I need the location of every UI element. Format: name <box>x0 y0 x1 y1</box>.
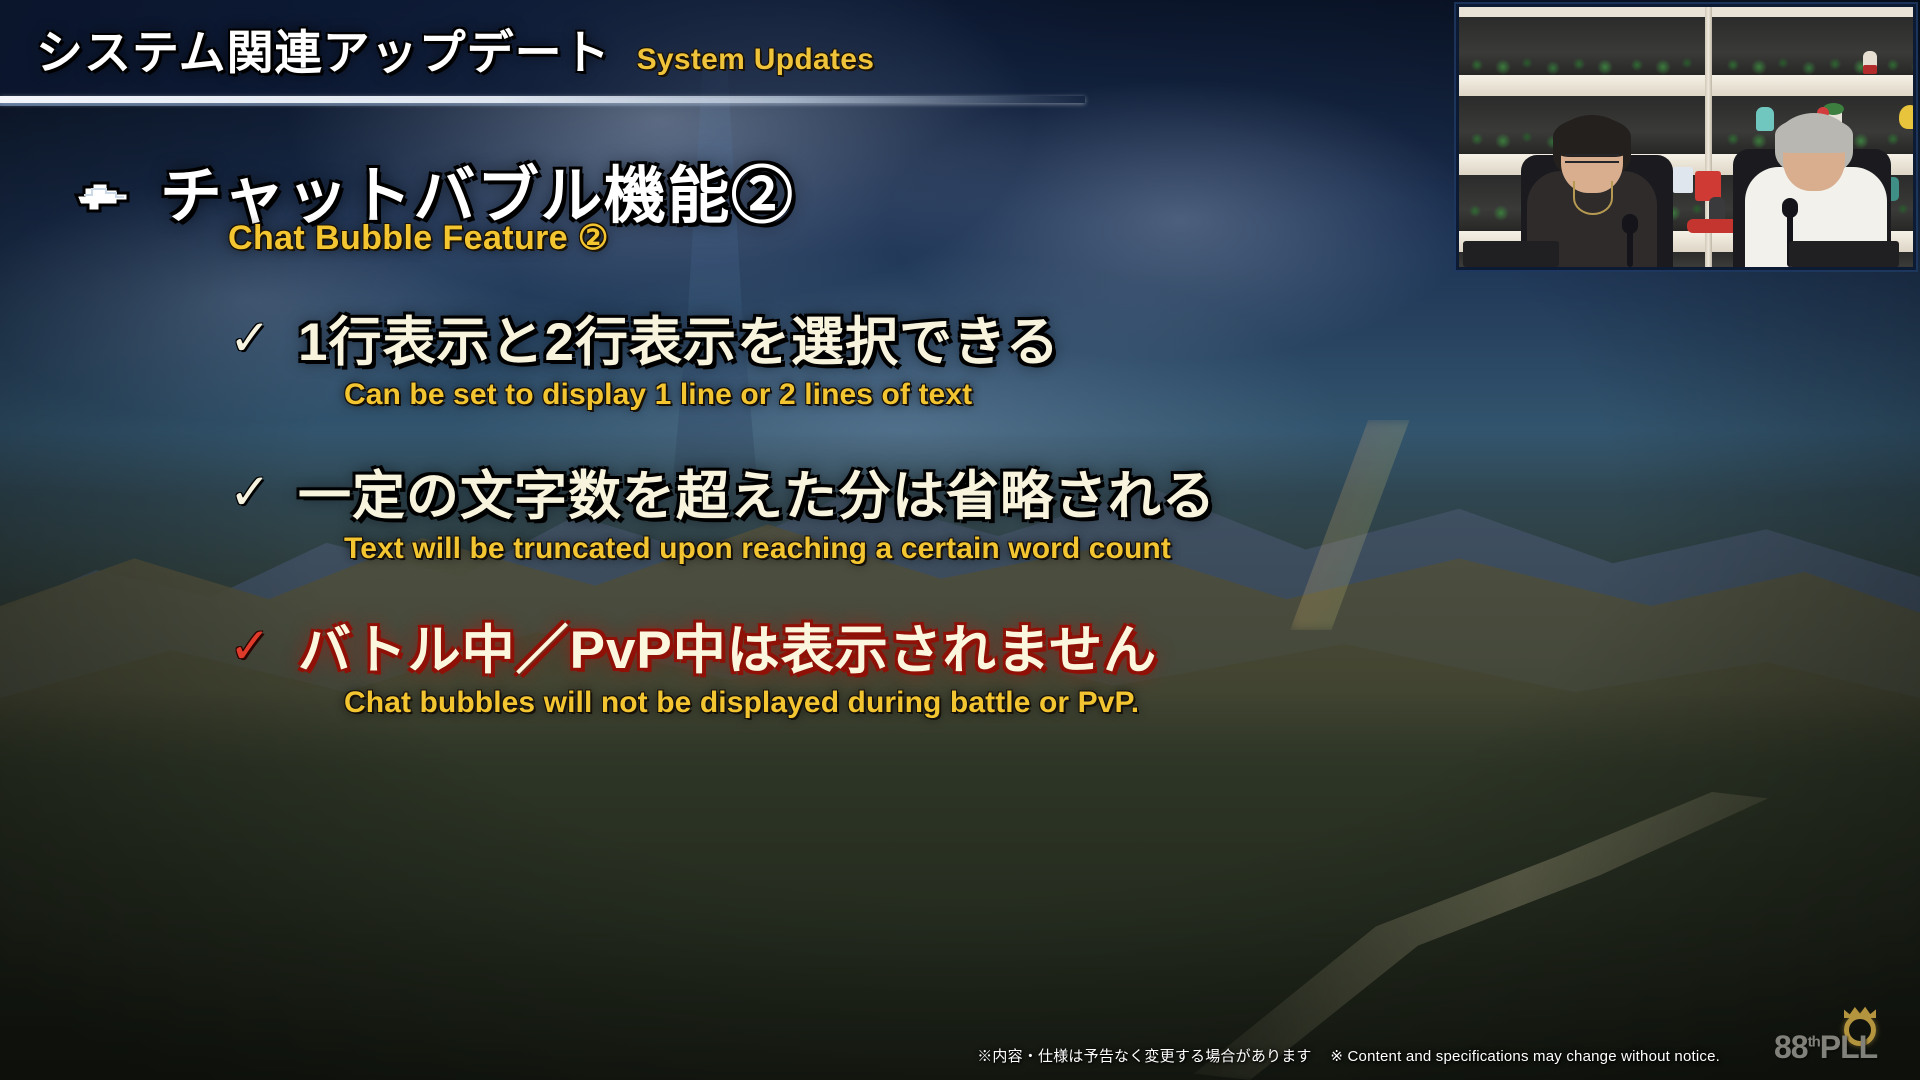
bullet-text-jp: 1行表示と2行表示を選択できる <box>298 300 1060 376</box>
pointing-hand-icon <box>70 173 136 219</box>
laptop <box>1463 241 1559 267</box>
header-title-en: System Updates <box>637 43 875 77</box>
checkmark-icon: ✓ <box>228 621 272 671</box>
header-divider-rule <box>0 96 1085 103</box>
bullet-text-jp: 一定の文字数を超えた分は省略される <box>298 454 1216 530</box>
shelf-figurine <box>1899 105 1916 129</box>
disclaimer-jp: ※内容・仕様は予告なく変更する場合があります <box>977 1048 1311 1065</box>
disclaimer-note: ※内容・仕様は予告なく変更する場合があります ※ Content and spe… <box>0 1045 1780 1066</box>
checkmark-icon: ✓ <box>228 467 272 517</box>
webcam-room-background <box>1459 7 1913 267</box>
header-banner: システム関連アップデート System Updates <box>0 0 1090 98</box>
list-item-warning: ✓ バトル中／PvP中は表示されません Chat bubbles will no… <box>228 608 1448 720</box>
shelf-figurine <box>1863 65 1877 74</box>
list-item: ✓ 一定の文字数を超えた分は省略される Text will be truncat… <box>228 454 1448 566</box>
header-title-jp: システム関連アップデート <box>36 14 611 83</box>
list-item: ✓ 1行表示と2行表示を選択できる Can be set to display … <box>228 300 1448 412</box>
disclaimer-en: ※ Content and specifications may change … <box>1330 1048 1720 1065</box>
watermark-ordinal: th <box>1808 1033 1820 1050</box>
microphone-icon <box>1627 227 1633 267</box>
laptop <box>1789 241 1899 267</box>
bullet-text-jp: バトル中／PvP中は表示されません <box>298 608 1157 684</box>
watermark-number: 88 <box>1774 1029 1808 1065</box>
bullet-text-en: Can be set to display 1 line or 2 lines … <box>344 378 1448 412</box>
checkmark-icon: ✓ <box>228 313 272 363</box>
shelf-card <box>1673 167 1693 193</box>
bullet-text-en: Text will be truncated upon reaching a c… <box>344 532 1448 566</box>
pll-watermark: 88thPLL <box>1774 1008 1906 1070</box>
bullet-list: ✓ 1行表示と2行表示を選択できる Can be set to display … <box>228 300 1448 762</box>
bullet-text-en: Chat bubbles will not be displayed durin… <box>344 686 1448 720</box>
necklace <box>1573 181 1613 215</box>
watermark-series: PLL <box>1820 1029 1877 1065</box>
watermark-label: 88thPLL <box>1774 1029 1906 1066</box>
slide-title-en: Chat Bubble Feature ② <box>228 218 609 258</box>
slide-stage: システム関連アップデート System Updates チャットバブル機能② C… <box>0 0 1920 1080</box>
presenter-webcam-inset <box>1456 4 1916 270</box>
